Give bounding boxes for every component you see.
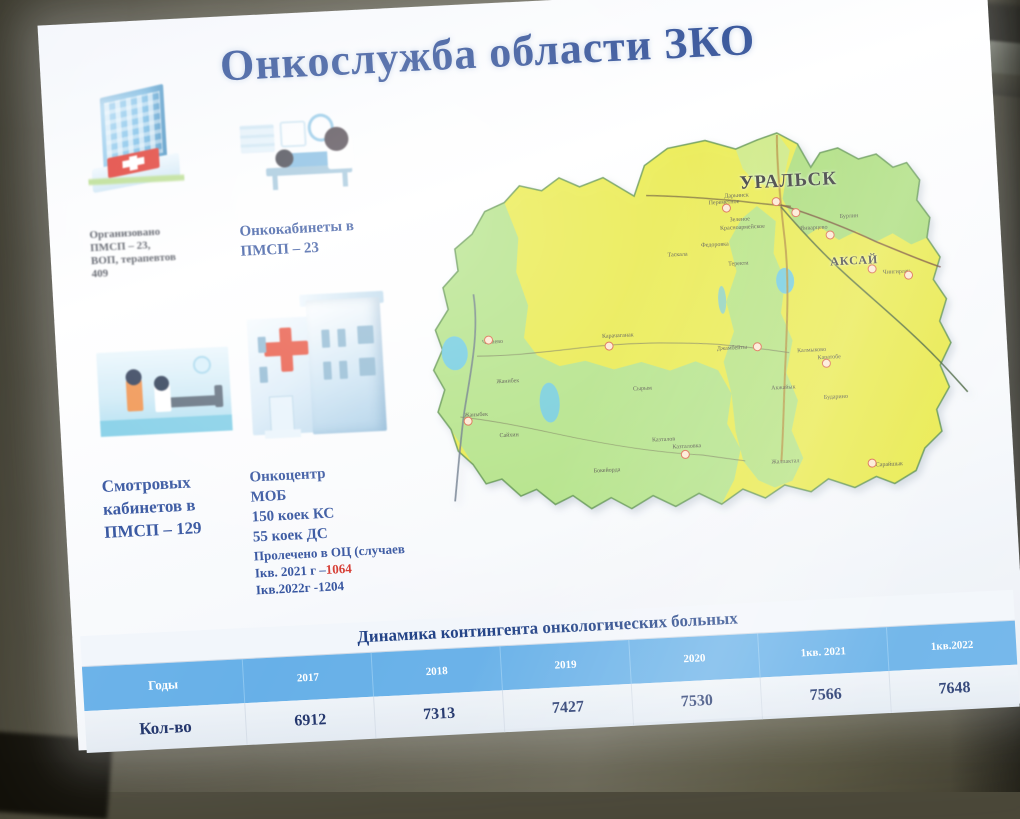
organized-pmsp-text: Организовано ПМСП – 23, ВОП, терапевтов … [89,222,242,281]
map-village-label: Зеленое [729,216,750,223]
table-cell: 7313 [374,690,505,738]
presentation-slide: Онкослужба области ЗКО [37,0,1020,750]
exam-room-icon [96,347,233,437]
clinic-building-icon [239,291,395,450]
region-map-svg [405,120,990,607]
table-cell: 7427 [503,684,634,732]
smotrovye-kabinety-text: Смотровых кабинетов в ПМСП – 129 [101,467,265,544]
hospital-tower-icon [83,81,185,190]
map-village-label: Бударино [824,394,848,401]
map-village-label: Казталов [652,436,676,443]
table-row-label: Кол-во [84,703,247,753]
map-village-label: Акжайык [771,384,796,391]
projection-screen: Онкослужба области ЗКО [37,0,1020,750]
table-cell: 6912 [245,697,376,745]
table-header-cell: 1кв.2022 [887,621,1017,671]
map-village-label: Жанибек [496,378,519,385]
doctor-exam-icon [239,107,372,199]
table-header-cell: 2018 [372,646,503,696]
page-title: Онкослужба области ЗКО [219,6,921,92]
map-village-label: Теректи [728,261,749,268]
table-cell: 7648 [889,665,1019,713]
table-header-cell: 2020 [629,634,760,684]
map-village-label: Таскала [667,252,687,259]
table-header-cell: 2019 [500,640,631,690]
map-village-label: Сайхин [499,432,519,439]
onkocentr-2021-value: 1064 [325,561,352,577]
table-cell: 7566 [761,671,892,719]
map-village-label: Бурлин [839,213,858,220]
region-map: УРАЛЬСК АКСАЙ ЧапаевоКарачаганакКаратобе… [405,120,990,607]
table-header-cell: 2017 [243,653,374,703]
projection-screen-wrapper: Онкослужба области ЗКО [0,0,1020,765]
table-cell: 7530 [632,677,763,725]
map-village-label: Сырым [633,386,652,393]
table-header-cell: 1кв. 2021 [758,627,889,677]
